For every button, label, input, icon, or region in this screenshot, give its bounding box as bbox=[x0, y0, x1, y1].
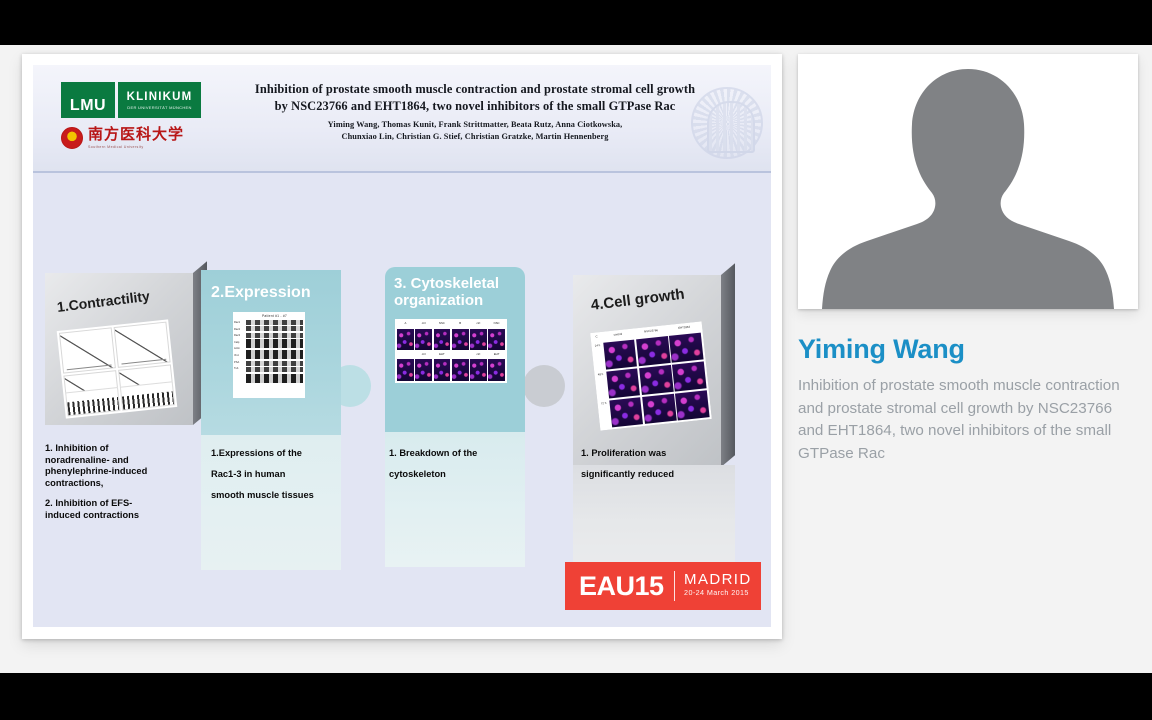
puzzle-piece-expression[interactable]: 2.Expression Patient #1 - #7 Rac1Rac2Rac… bbox=[201, 270, 341, 435]
lmu-abbrev-text: LMU bbox=[70, 97, 106, 115]
fluor-col-header bbox=[397, 352, 414, 358]
puzzle-piece-contractility[interactable]: 1.Contractility bbox=[45, 273, 193, 425]
eau-dates: 20-24 March 2015 bbox=[684, 586, 752, 599]
fluor-col-header: NSC bbox=[434, 321, 451, 327]
slide-author-block: Yiming Wang, Thomas Kunit, Frank Strittm… bbox=[215, 119, 735, 143]
cell-growth-cell bbox=[603, 339, 638, 370]
piece-2-figure-western-blot: Patient #1 - #7 Rac1Rac2Rac3Calp ActinVi… bbox=[233, 312, 305, 398]
cell-growth-corner-label: C bbox=[592, 334, 601, 342]
blot-band-row bbox=[246, 326, 303, 331]
piece-2-bullet-line-2: Rac1-3 in human bbox=[211, 464, 346, 485]
slide-card[interactable]: LMU KLINIKUM DER UNIVERSITÄT MÜNCHEN 南方医… bbox=[22, 54, 782, 639]
immunofluorescence-grid: A ctrl NSC B ctrl NSC bbox=[397, 321, 505, 381]
piece-1-bullet-line-4: contractions, bbox=[45, 478, 205, 490]
cell-growth-cell bbox=[642, 393, 677, 424]
fluor-cell bbox=[470, 359, 487, 381]
blot-band-row bbox=[246, 361, 303, 366]
piece-4-bullets: 1. Proliferation was significantly reduc… bbox=[581, 443, 731, 485]
klinikum-subtitle: DER UNIVERSITÄT MÜNCHEN bbox=[127, 105, 191, 110]
fluor-cell bbox=[470, 329, 487, 351]
smu-english-name: Southern Medical University bbox=[88, 145, 184, 149]
university-seal-watermark-icon bbox=[691, 87, 763, 159]
eau-location-block: MADRID 20-24 March 2015 bbox=[684, 573, 752, 599]
piece-3-title: 3. Cytoskeletal organization bbox=[394, 275, 522, 309]
cell-growth-cell bbox=[606, 368, 641, 399]
cell-growth-grid: C control NSC23766 EHT1864 24 h 48 h bbox=[592, 324, 709, 429]
smu-seal-icon bbox=[61, 127, 83, 149]
speaker-name: Yiming Wang bbox=[798, 334, 1138, 365]
slide-header: LMU KLINIKUM DER UNIVERSITÄT MÜNCHEN 南方医… bbox=[33, 65, 771, 173]
cell-growth-cell bbox=[636, 336, 671, 367]
piece-1-bullet-line-5: 2. Inhibition of EFS- bbox=[45, 498, 205, 510]
piece-3-bullet-line-1: 1. Breakdown of the bbox=[389, 443, 524, 464]
video-player-stage: LMU KLINIKUM DER UNIVERSITÄT MÜNCHEN 南方医… bbox=[0, 0, 1152, 720]
blot-band-row bbox=[246, 350, 303, 359]
person-silhouette-icon bbox=[798, 61, 1138, 309]
barchart-cell bbox=[120, 381, 175, 410]
fluor-cell bbox=[397, 359, 414, 381]
slide-title-block: Inhibition of prostate smooth muscle con… bbox=[215, 81, 735, 143]
fluor-cell bbox=[434, 359, 451, 381]
cell-growth-cell bbox=[672, 361, 707, 392]
letterbox-bottom bbox=[0, 673, 1152, 720]
puzzle-piece-cytoskeletal-organization[interactable]: 3. Cytoskeletal organization A ctrl NSC … bbox=[385, 267, 525, 432]
piece-1-figure-line-plots bbox=[57, 319, 178, 418]
fluor-col-header: NSC bbox=[488, 321, 505, 327]
piece-1-bullet-line-2: noradrenaline- and bbox=[45, 455, 205, 467]
piece-1-bullets: 1. Inhibition of noradrenaline- and phen… bbox=[45, 443, 205, 522]
fluor-cell bbox=[434, 329, 451, 351]
cell-growth-cell bbox=[669, 332, 704, 363]
piece-3-figure-immunofluorescence: A ctrl NSC B ctrl NSC bbox=[395, 319, 507, 383]
speaker-description: Inhibition of prostate smooth muscle con… bbox=[798, 375, 1128, 465]
eau-congress-logo: EAU15 MADRID 20-24 March 2015 bbox=[565, 562, 761, 610]
presentation-slide: LMU KLINIKUM DER UNIVERSITÄT MÜNCHEN 南方医… bbox=[33, 65, 771, 627]
fluor-col-header: EHT bbox=[488, 352, 505, 358]
fluor-cell bbox=[488, 329, 505, 351]
fluor-col-header: ctrl bbox=[470, 321, 487, 327]
content-viewport: LMU KLINIKUM DER UNIVERSITÄT MÜNCHEN 南方医… bbox=[0, 45, 1152, 673]
smu-text-block: 南方医科大学 Southern Medical University bbox=[88, 127, 184, 149]
lineplot-cell bbox=[114, 322, 171, 368]
fluor-col-header bbox=[452, 352, 469, 358]
piece-4-figure-cell-growth-grid: C control NSC23766 EHT1864 24 h 48 h bbox=[590, 321, 712, 430]
puzzle-piece-cell-growth[interactable]: 4.Cell growth C control NSC23766 EHT1864… bbox=[573, 275, 721, 467]
fluor-col-header: ctrl bbox=[470, 352, 487, 358]
fluor-cell bbox=[452, 329, 469, 351]
fluor-cell bbox=[415, 329, 432, 351]
blot-band-row bbox=[246, 367, 303, 372]
fluor-col-header: EHT bbox=[434, 352, 451, 358]
blot-band-row bbox=[246, 374, 303, 383]
institution-logos: LMU KLINIKUM DER UNIVERSITÄT MÜNCHEN 南方医… bbox=[61, 82, 201, 153]
smu-logo: 南方医科大学 Southern Medical University bbox=[61, 123, 201, 153]
fluor-cell bbox=[452, 359, 469, 381]
piece-3-bullet-line-2: cytoskeleton bbox=[389, 464, 524, 485]
speaker-avatar-card[interactable] bbox=[798, 54, 1138, 309]
fluor-cell bbox=[397, 329, 414, 351]
cell-growth-cell bbox=[675, 390, 710, 421]
piece-1-bullet-line-3: phenylephrine-induced bbox=[45, 466, 205, 478]
puzzle-connector-3-4 bbox=[523, 365, 565, 407]
piece-3-bullets: 1. Breakdown of the cytoskeleton bbox=[389, 443, 524, 485]
piece-2-bullet-line-3: smooth muscle tissues bbox=[211, 485, 346, 506]
fluor-col-header: A bbox=[397, 321, 414, 327]
piece-2-title: 2.Expression bbox=[211, 284, 311, 302]
barchart-cell bbox=[65, 387, 120, 416]
eau-city: MADRID bbox=[684, 573, 752, 586]
fluor-cell bbox=[488, 359, 505, 381]
blot-band-row bbox=[246, 333, 303, 338]
blot-band-row bbox=[246, 339, 303, 348]
fluor-col-header: ctrl bbox=[415, 321, 432, 327]
slide-title-line-1: Inhibition of prostate smooth muscle con… bbox=[215, 81, 735, 98]
cell-growth-cell bbox=[639, 364, 674, 395]
lmu-klinikum-logo: LMU KLINIKUM DER UNIVERSITÄT MÜNCHEN bbox=[61, 82, 201, 118]
immunofluorescence-panel: A ctrl NSC B ctrl NSC bbox=[395, 319, 507, 383]
speaker-panel: Yiming Wang Inhibition of prostate smoot… bbox=[798, 54, 1138, 465]
piece-4-side-bevel bbox=[721, 263, 735, 467]
fluor-cell bbox=[415, 359, 432, 381]
cell-growth-panel: C control NSC23766 EHT1864 24 h 48 h bbox=[590, 321, 712, 430]
letterbox-top bbox=[0, 0, 1152, 45]
piece-2-bullet-line-1: 1.Expressions of the bbox=[211, 443, 346, 464]
blot-caption: Patient #1 - #7 bbox=[246, 314, 303, 318]
fluor-col-header: ctrl bbox=[415, 352, 432, 358]
eau-name: EAU15 bbox=[565, 573, 664, 600]
cell-growth-cell bbox=[609, 397, 644, 428]
piece-2-bullets: 1.Expressions of the Rac1-3 in human smo… bbox=[211, 443, 346, 506]
blot-row-labels: Rac1Rac2Rac3Calp ActinVincPSATub bbox=[234, 320, 246, 373]
smu-chinese-name: 南方医科大学 bbox=[88, 127, 184, 143]
western-blot: Patient #1 - #7 Rac1Rac2Rac3Calp ActinVi… bbox=[233, 312, 305, 398]
slide-title-line-2: by NSC23766 and EHT1864, two novel inhib… bbox=[215, 98, 735, 115]
slide-author-line-1: Yiming Wang, Thomas Kunit, Frank Strittm… bbox=[215, 119, 735, 131]
lineplot-cell bbox=[59, 327, 116, 373]
lmu-abbrev-logo: LMU bbox=[61, 82, 115, 118]
slide-author-line-2: Chunxiao Lin, Christian G. Stief, Christ… bbox=[215, 131, 735, 143]
blot-band-row bbox=[246, 320, 303, 325]
piece-1-bullet-line-1: 1. Inhibition of bbox=[45, 443, 205, 455]
klinikum-name: KLINIKUM bbox=[127, 91, 193, 103]
klinikum-logo: KLINIKUM DER UNIVERSITÄT MÜNCHEN bbox=[118, 82, 201, 118]
eau-divider bbox=[674, 571, 676, 601]
piece-4-bullet-line-1: 1. Proliferation was bbox=[581, 443, 731, 464]
piece-4-bullet-line-2: significantly reduced bbox=[581, 464, 731, 485]
piece-1-bullet-line-6: induced contractions bbox=[45, 510, 205, 522]
fluor-col-header: B bbox=[452, 321, 469, 327]
